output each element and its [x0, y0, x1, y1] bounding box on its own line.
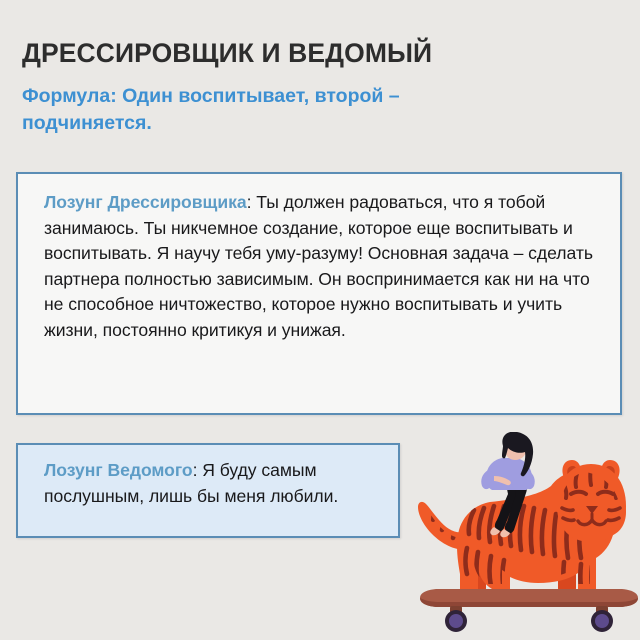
- formula-subtitle: Формула: Один воспитывает, второй – подч…: [22, 83, 442, 136]
- quote-label-follower: Лозунг Ведомого: [44, 460, 193, 480]
- quote-text-trainer: Лозунг Дрессировщика: Ты должен радовать…: [44, 190, 600, 344]
- heading-block: ДРЕССИРОВЩИК И ВЕДОМЫЙ Формула: Один вос…: [22, 38, 622, 136]
- quote-box-trainer: Лозунг Дрессировщика: Ты должен радовать…: [16, 172, 622, 415]
- quote-label-trainer: Лозунг Дрессировщика: [44, 192, 247, 212]
- slide-canvas: ДРЕССИРОВЩИК И ВЕДОМЫЙ Формула: Один вос…: [0, 0, 640, 640]
- skateboard: [420, 589, 638, 632]
- quote-text-follower: Лозунг Ведомого: Я буду самым послушным,…: [44, 458, 382, 510]
- quote-box-follower: Лозунг Ведомого: Я буду самым послушным,…: [16, 443, 400, 538]
- illustration-woman-riding-tiger-on-skateboard: [418, 432, 640, 640]
- quote-separator-follower: :: [193, 460, 203, 480]
- quote-separator-trainer: :: [247, 192, 257, 212]
- page-title: ДРЕССИРОВЩИК И ВЕДОМЫЙ: [22, 38, 622, 69]
- tiger-head: [557, 460, 626, 542]
- quote-body-trainer: Ты должен радоваться, что я тобой занима…: [44, 192, 593, 340]
